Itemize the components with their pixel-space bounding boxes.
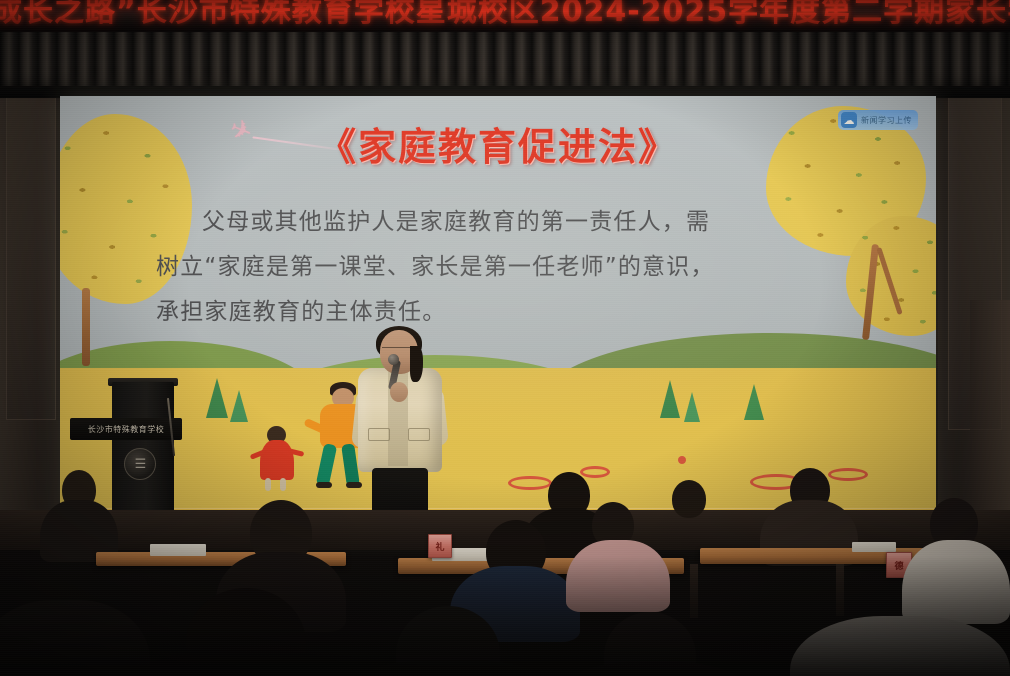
cloud-watermark-label: 新闻学习上传: [861, 115, 912, 126]
ground-blob-1: [508, 476, 552, 490]
audience-torso-m3: [566, 540, 670, 612]
desk-placard-left: 礼: [428, 534, 452, 558]
child-leg-right: [280, 478, 286, 491]
cloud-icon: ☁: [841, 112, 857, 128]
desk-leg-1: [690, 564, 698, 618]
school-crest-icon: ☰: [124, 448, 156, 480]
slide-body-line-1: 父母或其他监护人是家庭教育的第一责任人，需: [156, 200, 816, 245]
pine-tree-4: [684, 392, 700, 422]
audience-head-b3: [672, 480, 706, 518]
led-banner: 成长之路”长沙市特殊教育学校星城校区2024-2025学年度第二学期家长学校: [0, 0, 1010, 32]
speaker-presenter: [352, 330, 448, 520]
ground-blob-2: [580, 466, 610, 478]
child-leg-left: [265, 478, 271, 491]
speaker-hands: [390, 382, 408, 402]
podium-sign: 长沙市特殊教育学校: [70, 418, 182, 440]
desk-papers-right: [852, 542, 896, 552]
podium-sign-text: 长沙市特殊教育学校: [88, 424, 165, 435]
ground-blob-4: [828, 468, 868, 481]
auditorium-scene: 成长之路”长沙市特殊教育学校星城校区2024-2025学年度第二学期家长学校: [0, 0, 1010, 676]
stage-valance: [0, 32, 1010, 94]
child-dress: [260, 440, 294, 480]
led-banner-text: 成长之路”长沙市特殊教育学校星城校区2024-2025学年度第二学期家长学校: [0, 0, 1010, 30]
speaker-hair-side: [410, 346, 423, 382]
microphone-head: [388, 354, 399, 365]
desk-placard-left-text: 礼: [435, 540, 444, 553]
pine-tree-5: [744, 384, 764, 420]
pine-tree-1: [206, 378, 228, 418]
slide-body: 父母或其他监护人是家庭教育的第一责任人，需 树立“家庭是第一课堂、家长是第一任老…: [156, 200, 816, 335]
desk-papers-left: [150, 544, 206, 556]
adult-shoe-left: [316, 482, 332, 488]
desk-leg-2: [836, 564, 844, 616]
slide-body-line-3: 承担家庭教育的主体责任。: [156, 290, 816, 335]
slide-title: 《家庭教育促进法》: [60, 116, 936, 171]
speaker-pocket-left: [368, 428, 390, 441]
ground-dot-1: [678, 456, 686, 464]
illustration-child: [256, 426, 298, 492]
cloud-watermark-badge: ☁ 新闻学习上传: [838, 110, 918, 130]
desk-placard-right-text: 德: [894, 559, 903, 572]
trunk-left: [82, 288, 90, 366]
pine-tree-2: [230, 390, 248, 422]
pine-tree-3: [660, 380, 680, 418]
speaker-pocket-right: [408, 428, 430, 441]
audience-torso-m4: [902, 540, 1010, 624]
adult-pants-left: [316, 443, 337, 487]
left-wall-panel: [0, 28, 64, 548]
slide-body-line-2: 树立“家庭是第一课堂、家长是第一任老师”的意识，: [156, 245, 816, 290]
